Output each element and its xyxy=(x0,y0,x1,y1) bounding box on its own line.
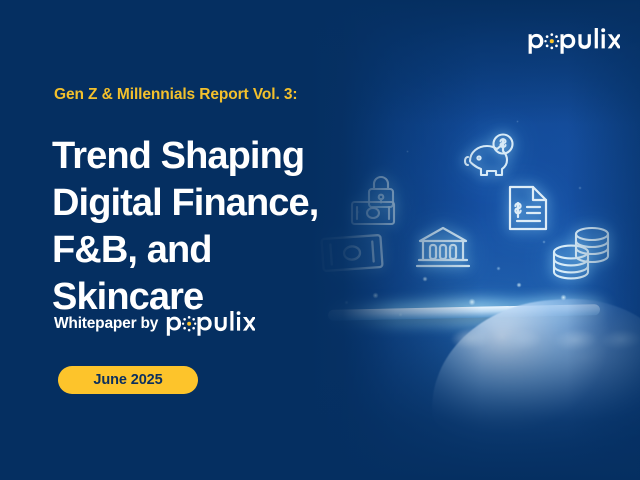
byline: Whitepaper by xyxy=(54,311,255,336)
cover-text-column: Gen Z & Millennials Report Vol. 3: Trend… xyxy=(54,0,384,480)
page-title: Trend Shaping Digital Finance, F&B, and … xyxy=(52,133,382,321)
populix-wordmark-svg xyxy=(527,28,620,54)
populix-dot-cluster-icon xyxy=(544,33,559,49)
populix-logo-top-right[interactable] xyxy=(527,28,620,54)
populix-wordmark-svg xyxy=(165,311,255,336)
populix-logo-byline[interactable] xyxy=(165,311,255,336)
report-eyebrow: Gen Z & Millennials Report Vol. 3: xyxy=(54,86,297,104)
headline-line-3: F&B, and xyxy=(52,227,382,274)
date-badge: June 2025 xyxy=(58,366,198,394)
headline-line-1: Trend Shaping xyxy=(52,133,382,180)
headline-line-2: Digital Finance, xyxy=(52,180,382,227)
populix-dot-cluster-icon xyxy=(182,316,196,331)
byline-label: Whitepaper by xyxy=(54,315,158,333)
whitepaper-cover: Gen Z & Millennials Report Vol. 3: Trend… xyxy=(0,0,640,480)
